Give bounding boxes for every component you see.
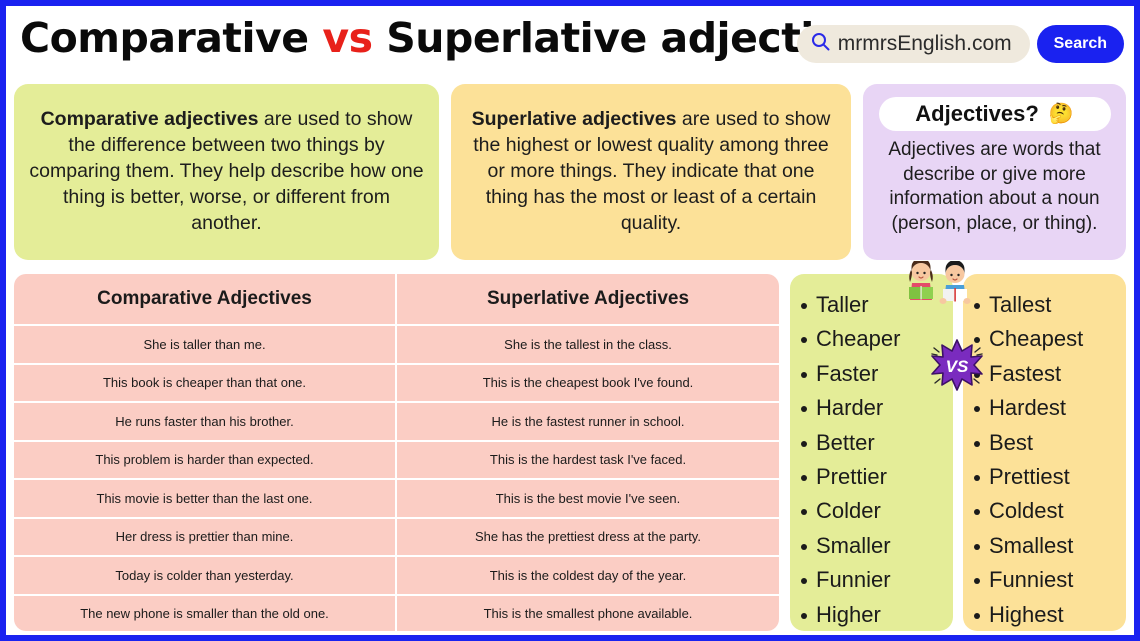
table-cell-superlative: He is the fastest runner in school. [397,403,779,440]
search-icon [811,32,830,56]
list-item: Better [816,426,953,460]
table-cell-comparative: This movie is better than the last one. [14,480,395,517]
poster-frame: Comparative vs Superlative adjectives mr… [6,6,1134,635]
list-item: Prettier [816,460,953,494]
thinking-face-icon: 🤔 [1049,104,1074,124]
list-item: Hardest [989,391,1126,425]
table-cell-comparative: Her dress is prettier than mine. [14,519,395,556]
table-row: This book is cheaper than that one. This… [14,365,779,402]
table-cell-comparative: He runs faster than his brother. [14,403,395,440]
list-panel-comparative: Taller Cheaper Faster Harder Better Pret… [790,274,953,631]
list-item: Smallest [989,529,1126,563]
list-item: Prettiest [989,460,1126,494]
header: Comparative vs Superlative adjectives mr… [6,6,1134,76]
card-adjectives-text: Adjectives are words that describe or gi… [863,138,1126,237]
card-comparative: Comparative adjectives are used to show … [14,84,439,260]
card-superlative-lead: Superlative adjectives [472,108,677,130]
table-row: This problem is harder than expected. Th… [14,442,779,479]
search-input-value: mrmrsEnglish.com [838,32,1012,56]
card-adjectives: Adjectives? 🤔 Adjectives are words that … [863,84,1126,260]
table-row: This movie is better than the last one. … [14,480,779,517]
vs-badge-label: VS [946,357,969,376]
table-row: He runs faster than his brother. He is t… [14,403,779,440]
adjectives-pill: Adjectives? 🤔 [879,97,1111,131]
table-cell-comparative: The new phone is smaller than the old on… [14,596,395,632]
table-cell-superlative: This is the cheapest book I've found. [397,365,779,402]
table-row: The new phone is smaller than the old on… [14,596,779,632]
table-row: Today is colder than yesterday. This is … [14,557,779,594]
table-header-superlative: Superlative Adjectives [397,274,779,324]
list-item: Coldest [989,494,1126,528]
list-item: Funniest [989,563,1126,597]
examples-table: Comparative Adjectives Superlative Adjec… [14,274,779,631]
list-item: Funnier [816,563,953,597]
search-input[interactable]: mrmrsEnglish.com [797,25,1030,63]
table-row: Her dress is prettier than mine. She has… [14,519,779,556]
search-area: mrmrsEnglish.com Search [797,25,1124,63]
table-cell-comparative: Today is colder than yesterday. [14,557,395,594]
list-item: Best [989,426,1126,460]
card-comparative-lead: Comparative adjectives [41,108,259,130]
list-item: Smaller [816,529,953,563]
page-title: Comparative vs Superlative adjectives [20,14,891,62]
definition-cards: Comparative adjectives are used to show … [14,84,1126,260]
list-item: Higher [816,598,953,632]
vs-badge: VS [931,339,983,391]
table-header-comparative: Comparative Adjectives [14,274,395,324]
list-item: Harder [816,391,953,425]
table-cell-superlative: This is the smallest phone available. [397,596,779,632]
table-cell-comparative: This book is cheaper than that one. [14,365,395,402]
table-cell-superlative: This is the best movie I've seen. [397,480,779,517]
card-superlative: Superlative adjectives are used to show … [451,84,851,260]
superlative-word-list: Tallest Cheapest Fastest Hardest Best Pr… [963,288,1126,632]
title-vs: vs [322,14,372,62]
table-cell-comparative: This problem is harder than expected. [14,442,395,479]
table-cell-comparative: She is taller than me. [14,326,395,363]
adjectives-pill-label: Adjectives? [915,101,1039,127]
word-lists: Taller Cheaper Faster Harder Better Pret… [790,274,1126,631]
kids-reading-icon [899,261,981,311]
table-cell-superlative: She is the tallest in the class. [397,326,779,363]
table-cell-superlative: She has the prettiest dress at the party… [397,519,779,556]
list-item: Fastest [989,357,1126,391]
list-item: Highest [989,598,1126,632]
title-part-1: Comparative [20,14,322,62]
card-comparative-text: Comparative adjectives are used to show … [14,107,439,237]
list-item: Tallest [989,288,1126,322]
card-superlative-text: Superlative adjectives are used to show … [451,107,851,237]
comparative-word-list: Taller Cheaper Faster Harder Better Pret… [790,288,953,632]
search-button[interactable]: Search [1037,25,1124,63]
table-header-row: Comparative Adjectives Superlative Adjec… [14,274,779,324]
table-cell-superlative: This is the coldest day of the year. [397,557,779,594]
table-row: She is taller than me. She is the talles… [14,326,779,363]
list-item: Cheapest [989,322,1126,356]
list-item: Colder [816,494,953,528]
list-panel-superlative: Tallest Cheapest Fastest Hardest Best Pr… [963,274,1126,631]
table-cell-superlative: This is the hardest task I've faced. [397,442,779,479]
